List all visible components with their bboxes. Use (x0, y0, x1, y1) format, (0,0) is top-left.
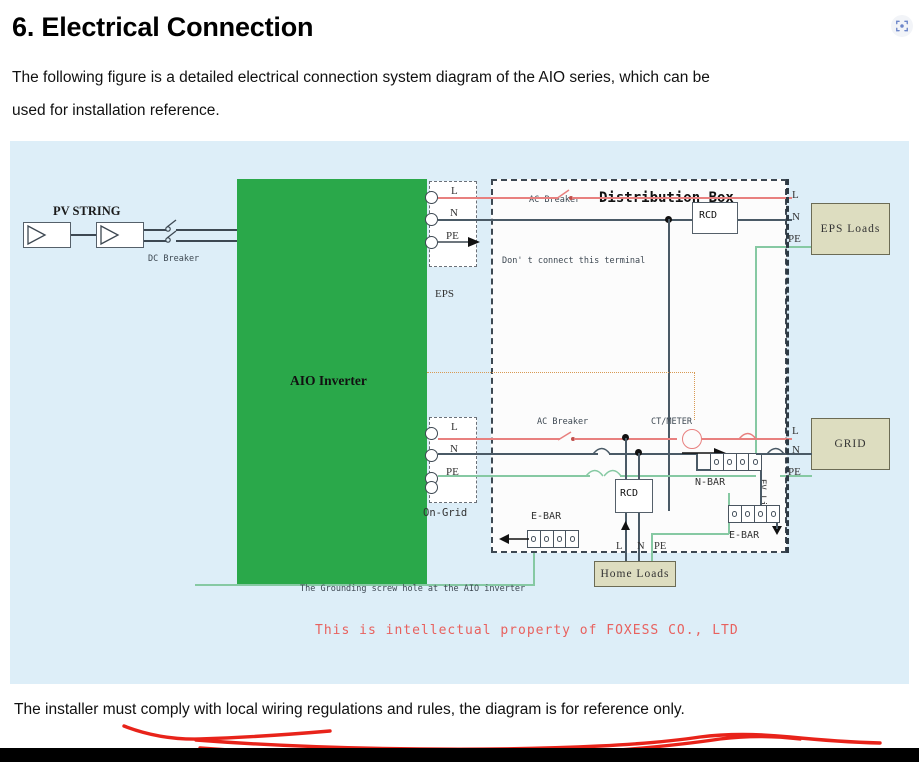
home-load-pin-l: L (616, 541, 622, 552)
home-loads-box: Home Loads (594, 561, 676, 587)
home-load-n-wire (638, 513, 640, 561)
n-bar-slot (724, 454, 737, 470)
e-bar-left-arrow-icon (499, 532, 529, 546)
ongrid-pe-wire-right (620, 475, 756, 477)
ongrid-terminal-caption: On-Grid (423, 507, 467, 519)
ct-signal-line-horizontal (427, 372, 695, 373)
e-bar-slot (755, 506, 768, 522)
dc-wire-to-inverter-1 (176, 229, 238, 231)
copyright-notice: This is intellectual property of FOXESS … (315, 623, 739, 638)
eps-n-wire (438, 219, 692, 221)
scan-focus-icon[interactable] (891, 15, 913, 37)
eps-l-wire-right (572, 197, 792, 199)
e-bar-slot (528, 531, 541, 547)
e-bar-slot (729, 506, 742, 522)
top-ac-breaker-icon (555, 187, 579, 203)
right-boundary-dash (786, 179, 789, 553)
pv-link-wire (71, 234, 96, 236)
e-bar-left-label: E-BAR (531, 511, 561, 522)
eps-loads-box: EPS Loads (811, 203, 890, 255)
eps-loads-label: EPS Loads (821, 223, 881, 235)
document-page: 6. Electrical Connection The following f… (0, 12, 919, 720)
e-bar-right-strip (728, 505, 780, 523)
eps-pe-arrow-icon (438, 235, 482, 249)
eps-pe-green-riser (755, 246, 757, 459)
eps-pin-n (425, 213, 438, 226)
pv-panel-1-diode-icon (25, 224, 51, 246)
aio-inverter-label: AIO Inverter (290, 373, 367, 389)
intro-line-2: used for installation reference. (12, 94, 907, 127)
eps-pin-n-label: N (450, 207, 458, 219)
n-bar-slot (711, 454, 724, 470)
eps-terminal-caption: EPS (435, 288, 454, 300)
bottom-ac-breaker-icon (557, 429, 581, 445)
eps-pin-l (425, 191, 438, 204)
ct-meter-label: CT/METER (651, 417, 692, 427)
ct-signal-line-vertical (694, 372, 695, 420)
dc-wire-to-inverter-2 (176, 240, 238, 242)
pv-string-label: PV STRING (53, 204, 121, 219)
home-load-pe-wire-h (651, 533, 729, 535)
e-bar-right-label: E-BAR (729, 530, 759, 541)
home-load-pe-wire (651, 533, 653, 561)
home-loads-label: Home Loads (600, 568, 669, 580)
right-pin-l-top: L (792, 189, 799, 201)
grounding-note: The Grounding screw hole at the AIO inve… (300, 584, 525, 594)
ongrid-n-wire-left (438, 453, 598, 455)
intro-line-1: The following figure is a detailed elect… (12, 69, 710, 86)
l-wire-hop-1 (739, 430, 757, 440)
top-rcd-label: RCD (699, 210, 717, 221)
dc-breaker-label: DC Breaker (148, 254, 199, 264)
bottom-rcd-label: RCD (620, 488, 638, 499)
ongrid-l-wire-left (438, 438, 560, 440)
e-bar-slot (541, 531, 554, 547)
footer-caption: The installer must comply with local wir… (14, 700, 909, 720)
n-bar-strip (710, 453, 762, 471)
n-bar-slot (737, 454, 750, 470)
bottom-black-bar (0, 748, 919, 762)
n-wire-hop-2 (767, 445, 785, 455)
eps-pin-l-label: L (451, 185, 458, 197)
electrical-connection-diagram: PV STRING DC Breaker AIO Inverter The Gr… (10, 141, 909, 684)
eps-n-wire-after-rcd (737, 219, 792, 221)
intro-paragraph: The following figure is a detailed elect… (12, 61, 907, 127)
page-title: 6. Electrical Connection (12, 12, 909, 43)
eps-pe-green-wire (755, 246, 811, 248)
dc-breaker-icon (162, 219, 198, 249)
right-pin-pe-top: PE (788, 233, 801, 245)
rcd-feed-l (625, 438, 627, 481)
n-bar-label: N-BAR (695, 477, 725, 488)
home-load-pin-n: N (637, 541, 645, 552)
ongrid-pin-l-label: L (451, 421, 458, 433)
pv-panel-2-diode-icon (98, 224, 124, 246)
bottom-ac-breaker-label: AC Breaker (537, 417, 588, 427)
ongrid-pin-l (425, 427, 438, 440)
right-pin-l-bottom: L (792, 425, 799, 437)
grid-label: GRID (834, 438, 866, 450)
dont-connect-warning: Don' t connect this terminal (502, 256, 645, 266)
ongrid-pin-extra (425, 481, 438, 494)
eps-pin-pe (425, 236, 438, 249)
ongrid-pin-n (425, 449, 438, 462)
eps-n-drop-wire (668, 219, 670, 511)
e-bar-left-strip (527, 530, 579, 548)
e-bar-right-ground-wire (776, 523, 778, 529)
right-pin-n-top: N (792, 211, 800, 223)
eps-l-wire-left (438, 197, 558, 199)
ongrid-pe-wire-left (438, 475, 590, 477)
grid-box: GRID (811, 418, 890, 470)
home-load-l-arrow-icon (621, 521, 630, 531)
home-load-pin-pe: PE (654, 541, 666, 552)
e-bar-slot (742, 506, 755, 522)
e-bar-slot (554, 531, 567, 547)
n-bar-slot (749, 454, 761, 470)
e-bar-slot (767, 506, 779, 522)
pe-wire-hop-1 (586, 467, 604, 477)
grid-pe-wire (780, 475, 812, 477)
e-bar-slot (566, 531, 578, 547)
rcd-feed-n (638, 453, 640, 481)
